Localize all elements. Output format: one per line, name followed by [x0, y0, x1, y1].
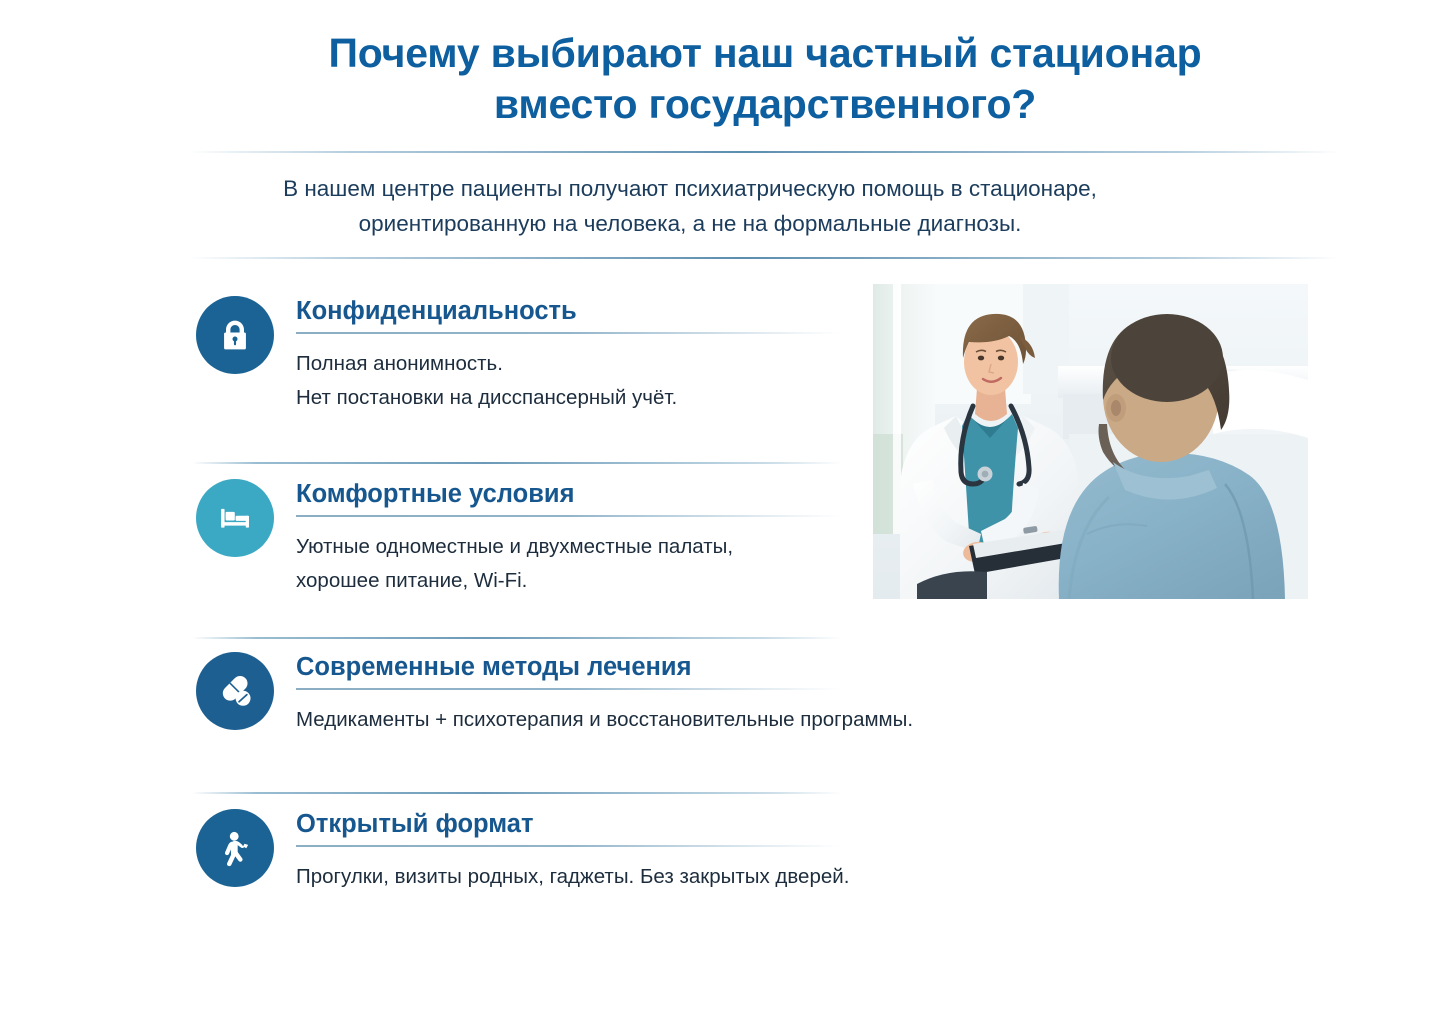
feature-text-line: Уютные одноместные и двухместные палаты, [296, 530, 852, 564]
divider-under-intro [188, 257, 1340, 259]
intro-line-1: В нашем центре пациенты получают психиат… [190, 172, 1190, 207]
infographic-slide: Почему выбирают наш частный стационар вм… [0, 0, 1456, 1024]
feature-text: Прогулки, визиты родных, гаджеты. Без за… [296, 860, 852, 894]
feature-text: Медикаменты + психотерапия и восстановит… [296, 703, 852, 737]
feature-text: Уютные одноместные и двухместные палаты,… [296, 530, 852, 597]
feature-heading: Открытый формат [296, 809, 852, 845]
feature-text-line: хорошее питание, Wi-Fi. [296, 564, 852, 598]
divider-between-features-3-4 [192, 792, 842, 794]
heading-underline [296, 688, 842, 690]
page-title-line-1: Почему выбирают наш частный стационар [190, 28, 1340, 79]
intro-line-2: ориентированную на человека, а не на фор… [190, 207, 1190, 242]
divider-between-features-1-2 [192, 462, 842, 464]
feature-text-line: Нет постановки на дисспансерный учёт. [296, 381, 852, 415]
heading-underline [296, 515, 842, 517]
doctor-consulting-patient-photo [873, 284, 1308, 599]
feature-body: Современные методы лечения Медикаменты +… [296, 652, 852, 737]
feature-body: Конфиденциальность Полная анонимность. Н… [296, 296, 852, 414]
bed-icon [196, 479, 274, 557]
feature-text-line: Медикаменты + психотерапия и восстановит… [296, 703, 852, 737]
feature-heading: Конфиденциальность [296, 296, 852, 332]
feature-heading: Современные методы лечения [296, 652, 852, 688]
feature-body: Открытый формат Прогулки, визиты родных,… [296, 809, 852, 894]
feature-text-line: Прогулки, визиты родных, гаджеты. Без за… [296, 860, 852, 894]
page-title-line-2: вместо государственного? [190, 79, 1340, 130]
page-title: Почему выбирают наш частный стационар вм… [190, 28, 1340, 130]
heading-underline [296, 845, 842, 847]
walking-person-icon [196, 809, 274, 887]
divider-under-title [188, 151, 1340, 153]
pills-icon [196, 652, 274, 730]
feature-heading: Комфортные условия [296, 479, 852, 515]
feature-body: Комфортные условия Уютные одноместные и … [296, 479, 852, 597]
feature-text-line: Полная анонимность. [296, 347, 852, 381]
lock-icon [196, 296, 274, 374]
intro-paragraph: В нашем центре пациенты получают психиат… [190, 172, 1190, 242]
feature-text: Полная анонимность. Нет постановки на ди… [296, 347, 852, 414]
divider-between-features-2-3 [192, 637, 842, 639]
heading-underline [296, 332, 842, 334]
